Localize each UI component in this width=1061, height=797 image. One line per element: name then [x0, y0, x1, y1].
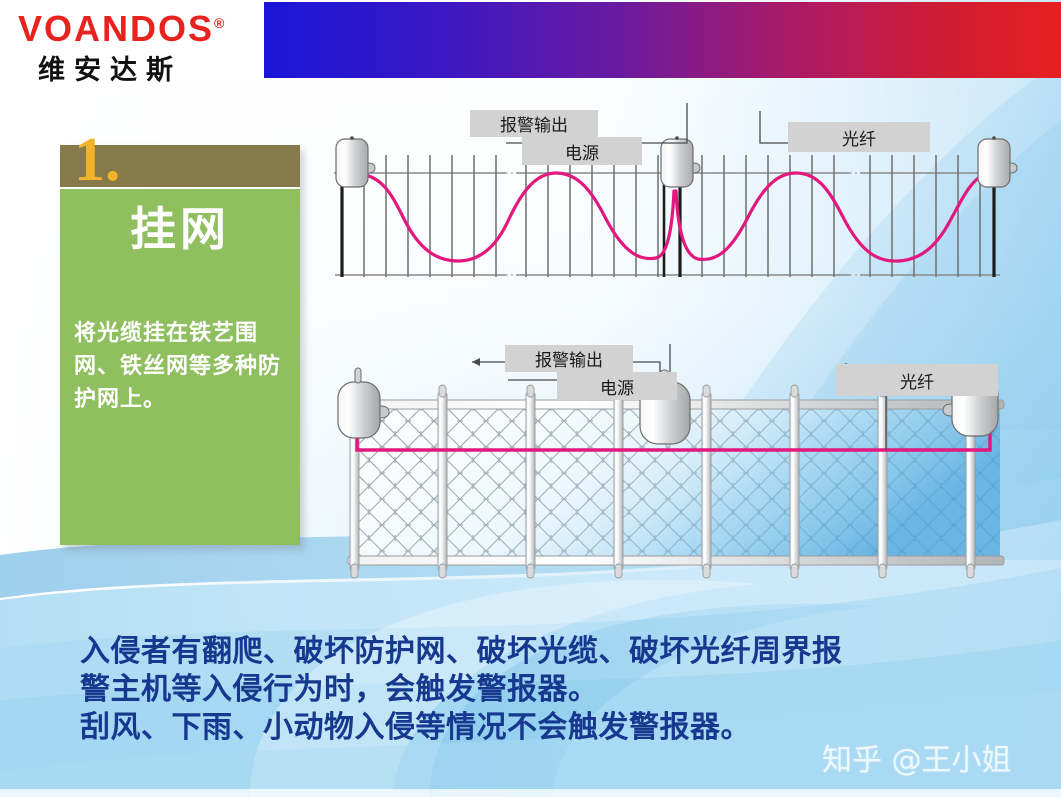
step-card: 1. 挂网 将光缆挂在铁艺围网、铁丝网等多种防护网上。: [60, 145, 300, 545]
step-card-title: 挂网: [60, 193, 300, 259]
summary-line-1: 入侵者有翻爬、破坏防护网、破坏光缆、破坏光纤周界报: [80, 633, 1020, 671]
detector-module: [336, 136, 375, 187]
fiber-cable: [352, 173, 674, 261]
fiber-cable: [676, 173, 988, 261]
callout-optical-fiber-top: 光纤: [788, 122, 930, 152]
callout-power-top: 电源: [522, 137, 642, 165]
callout-power-bottom: 电源: [557, 372, 677, 400]
step-number: 1.: [74, 129, 121, 191]
detector-module: [661, 136, 700, 187]
brand-logo-chinese: 维安达斯: [38, 48, 182, 87]
step-card-description: 将光缆挂在铁艺围网、铁丝网等多种防护网上。: [74, 317, 286, 416]
header-bar: VOANDOS® 维安达斯: [0, 0, 1061, 80]
header-gradient-bar: [264, 2, 1061, 78]
summary-line-2: 警主机等入侵行为时，会触发警报器。: [80, 671, 1020, 709]
arrow-head: [472, 358, 480, 366]
logo-panel: VOANDOS® 维安达斯: [0, 0, 264, 80]
callout-optical-fiber-bottom: 光纤: [836, 364, 998, 396]
post-feet: [351, 564, 974, 578]
callout-alarm-output-top: 报警输出: [470, 110, 598, 137]
summary-text: 入侵者有翻爬、破坏防护网、破坏光缆、破坏光纤周界报 警主机等入侵行为时，会触发警…: [80, 633, 1020, 747]
callout-alarm-output-bottom: 报警输出: [505, 345, 633, 372]
watermark: 知乎 @王小姐: [822, 735, 1012, 779]
slide-root: VOANDOS® 维安达斯 1. 挂网 将光缆挂在铁艺围网、铁丝网等多种防护网上…: [0, 0, 1061, 797]
registered-trademark-icon: ®: [214, 15, 226, 31]
brand-logo-text: VOANDOS: [18, 8, 214, 49]
detector-module: [978, 136, 1017, 187]
brand-logo-english: VOANDOS®: [18, 8, 226, 50]
